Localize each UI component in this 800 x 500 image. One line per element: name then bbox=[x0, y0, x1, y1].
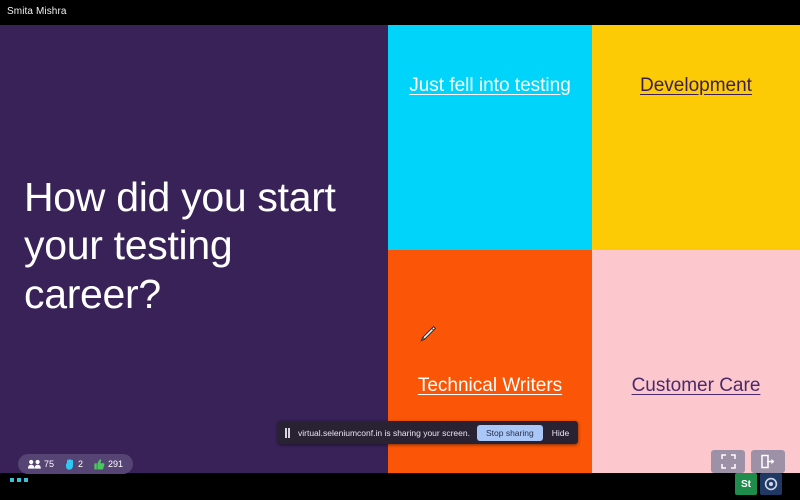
hide-notification-button[interactable]: Hide bbox=[550, 428, 571, 438]
taskbar-sticky-notes-label: St bbox=[741, 479, 751, 490]
leave-meeting-button[interactable] bbox=[751, 450, 785, 473]
quadrant-customer-care[interactable]: Customer Care bbox=[592, 250, 800, 473]
shared-slide: How did you start your testing career? J… bbox=[0, 25, 800, 473]
screen-share-notification: virtual.seleniumconf.in is sharing your … bbox=[278, 421, 578, 444]
people-icon bbox=[28, 459, 41, 469]
pause-icon bbox=[284, 428, 291, 438]
raised-hand-count-value: 2 bbox=[78, 459, 83, 469]
quadrant-development[interactable]: Development bbox=[592, 25, 800, 250]
os-taskbar: St bbox=[735, 473, 782, 495]
meeting-controls bbox=[711, 450, 785, 473]
thumbs-up-icon bbox=[94, 459, 105, 470]
raised-hand-count[interactable]: 2 bbox=[65, 459, 83, 470]
app-icon bbox=[764, 477, 778, 491]
answer-quadrant-grid: Just fell into testing Development Techn… bbox=[388, 25, 800, 473]
participant-count-value: 75 bbox=[44, 459, 54, 469]
quadrant-label: Just fell into testing bbox=[399, 74, 581, 98]
slide-question: How did you start your testing career? bbox=[24, 173, 364, 318]
fullscreen-button[interactable] bbox=[711, 450, 745, 473]
quadrant-label: Technical Writers bbox=[408, 374, 572, 398]
presenter-name: Smita Mishra bbox=[7, 6, 67, 17]
presenter-bar: Smita Mishra bbox=[0, 0, 800, 25]
meeting-screen-share-view: Smita Mishra How did you start your test… bbox=[0, 0, 800, 500]
quadrant-label: Customer Care bbox=[622, 374, 771, 398]
fullscreen-icon bbox=[721, 454, 736, 469]
stop-sharing-button[interactable]: Stop sharing bbox=[477, 425, 543, 441]
leave-meeting-icon bbox=[760, 454, 776, 469]
quadrant-label: Development bbox=[630, 74, 762, 98]
screen-share-message: virtual.seleniumconf.in is sharing your … bbox=[298, 428, 470, 438]
taskbar-app[interactable] bbox=[760, 473, 782, 495]
participant-count[interactable]: 75 bbox=[28, 459, 54, 469]
taskbar-sticky-notes[interactable]: St bbox=[735, 473, 757, 495]
meeting-stats-pill: 75 2 291 bbox=[18, 454, 133, 474]
thumbs-up-count-value: 291 bbox=[108, 459, 123, 469]
thumbs-up-count[interactable]: 291 bbox=[94, 459, 123, 470]
more-options-icon[interactable] bbox=[10, 478, 28, 482]
raised-hand-icon bbox=[65, 459, 75, 470]
quadrant-just-fell-into-testing[interactable]: Just fell into testing bbox=[388, 25, 592, 250]
